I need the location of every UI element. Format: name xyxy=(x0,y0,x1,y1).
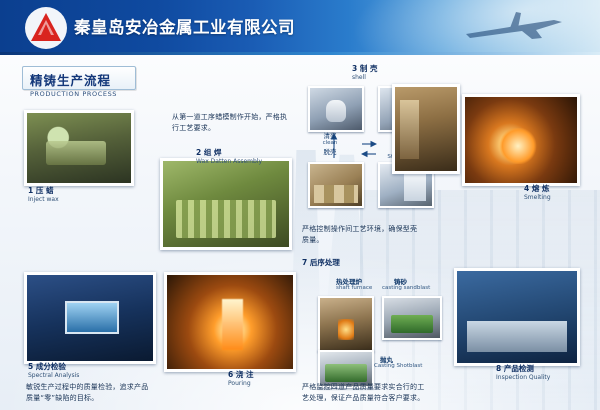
airplane-icon xyxy=(458,8,578,48)
section-title-cn: 精铸生产流程 xyxy=(30,70,111,89)
label-step-2: 2 组 焊 Wax Datten Assembly xyxy=(196,148,292,166)
label-step-5-num: 5 xyxy=(28,362,33,371)
label-step-1-num: 1 xyxy=(28,186,33,195)
label-step-2-en: Wax Datten Assembly xyxy=(196,157,292,166)
photo-pouring xyxy=(164,272,296,372)
label-step-6: 6 浇 注 Pouring xyxy=(228,370,298,388)
label-step-1: 1 压 蜡 Inject wax xyxy=(28,186,108,204)
photo-spectral-analysis xyxy=(24,272,156,364)
label-step-6-cn: 6 浇 注 xyxy=(228,370,298,379)
label-step-4-cn: 4 熔 炼 xyxy=(524,184,594,193)
body-text-spectral: 敏锐生产过程中的质量检验，追求产品质量“零”缺陷的目标。 xyxy=(26,382,154,404)
shell-label-dewax: 脱壳 xyxy=(302,146,358,156)
photo-casting-sandblast xyxy=(382,296,442,340)
label-step-5-cn: 5 成分检验 xyxy=(28,362,128,371)
label-step-2-num: 2 xyxy=(196,148,201,157)
section-title-en: PRODUCTION PROCESS xyxy=(30,90,117,98)
photo-inject-wax-image xyxy=(27,113,131,183)
photo-smelting-image xyxy=(465,97,577,183)
label-step-8-num: 8 xyxy=(496,364,501,373)
page-canvas: 秦皇岛安冶金属工业有限公司 精铸生产流程 PRODUCTION PROCESS … xyxy=(0,0,600,410)
photo-inspection xyxy=(454,268,580,366)
label-step-4-num: 4 xyxy=(524,184,529,193)
label-step-8: 8 产品检测 Inspection Quality xyxy=(496,364,588,382)
post-process-diagram: 热处理炉 shaft furnace 铸砂 casting sandblast … xyxy=(300,258,450,388)
post-label-sandblast-en: casting sandblast xyxy=(382,285,430,291)
post-label-shotblast-en: Casting Shotblast xyxy=(374,363,422,369)
company-name: 秦皇岛安冶金属工业有限公司 xyxy=(74,14,295,38)
photo-inject-wax xyxy=(24,110,134,186)
label-step-6-num: 6 xyxy=(228,370,233,379)
post-label-furnace-en: shaft furnace xyxy=(336,285,372,291)
body-text-post: 严格监控四道产品质量要求实合行的工艺处理，保证产品质量符合客户要求。 xyxy=(302,382,430,404)
body-text-shell: 严格控制操作间工艺环境，确保型壳质量。 xyxy=(302,224,422,246)
label-step-8-cn: 8 产品检测 xyxy=(496,364,588,373)
photo-wax-assembly-image xyxy=(163,161,289,247)
label-step-5: 5 成分检验 Spectral Analysis xyxy=(28,362,128,380)
label-step-1-en: Inject wax xyxy=(28,195,108,204)
label-step-4: 4 熔 炼 Smelting xyxy=(524,184,594,202)
page-header: 秦皇岛安冶金属工业有限公司 xyxy=(0,0,600,55)
header-underline xyxy=(0,52,600,55)
triangle-mountain-logo xyxy=(24,6,68,50)
label-step-5-en: Spectral Analysis xyxy=(28,371,128,380)
photo-wax-assembly xyxy=(160,158,292,250)
photo-pouring-image xyxy=(167,275,293,369)
label-step-6-en: Pouring xyxy=(228,379,298,388)
photo-shaft-furnace xyxy=(318,296,374,352)
label-step-1-cn: 1 压 蜡 xyxy=(28,186,108,195)
photo-smelting xyxy=(462,94,580,186)
photo-inspection-image xyxy=(457,271,577,363)
body-text-wax: 从第一道工序蜡模制作开始，严格执行工艺要求。 xyxy=(172,112,290,134)
photo-spectral-analysis-image xyxy=(27,275,153,361)
label-step-4-en: Smelting xyxy=(524,193,594,202)
label-step-2-cn: 2 组 焊 xyxy=(196,148,292,157)
section-title-box: 精铸生产流程 xyxy=(22,66,136,90)
photo-shell-room xyxy=(392,84,460,174)
shell-label-clean: 清浆 clean xyxy=(302,130,358,146)
label-step-8-en: Inspection Quality xyxy=(496,373,588,382)
